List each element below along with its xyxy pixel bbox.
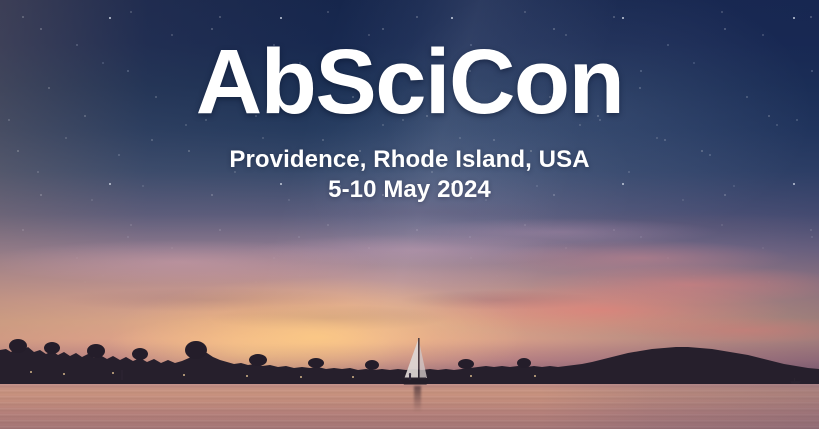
abscicon-banner: AbSciCon Providence, Rhode Island, USA 5… bbox=[0, 0, 819, 429]
jib-sail bbox=[420, 344, 427, 378]
water-cool-tint bbox=[540, 378, 819, 429]
hull bbox=[400, 380, 430, 385]
event-location: Providence, Rhode Island, USA bbox=[0, 128, 819, 174]
shore-light bbox=[246, 375, 248, 377]
shore-light bbox=[112, 372, 114, 374]
distant-boat bbox=[789, 378, 803, 385]
shore-light bbox=[534, 375, 536, 377]
shore-light bbox=[352, 376, 354, 378]
event-dates: 5-10 May 2024 bbox=[0, 174, 819, 204]
banner-text: AbSciCon Providence, Rhode Island, USA 5… bbox=[0, 0, 819, 205]
sailboat-reflection bbox=[414, 386, 421, 412]
shore-light bbox=[470, 375, 472, 377]
mainsail bbox=[405, 340, 419, 378]
page-title: AbSciCon bbox=[0, 0, 819, 128]
shore-light bbox=[183, 374, 185, 376]
shore-light bbox=[300, 376, 302, 378]
shore-light bbox=[63, 373, 65, 375]
sailboat-silhouette bbox=[392, 336, 448, 388]
shore-light bbox=[30, 371, 32, 373]
